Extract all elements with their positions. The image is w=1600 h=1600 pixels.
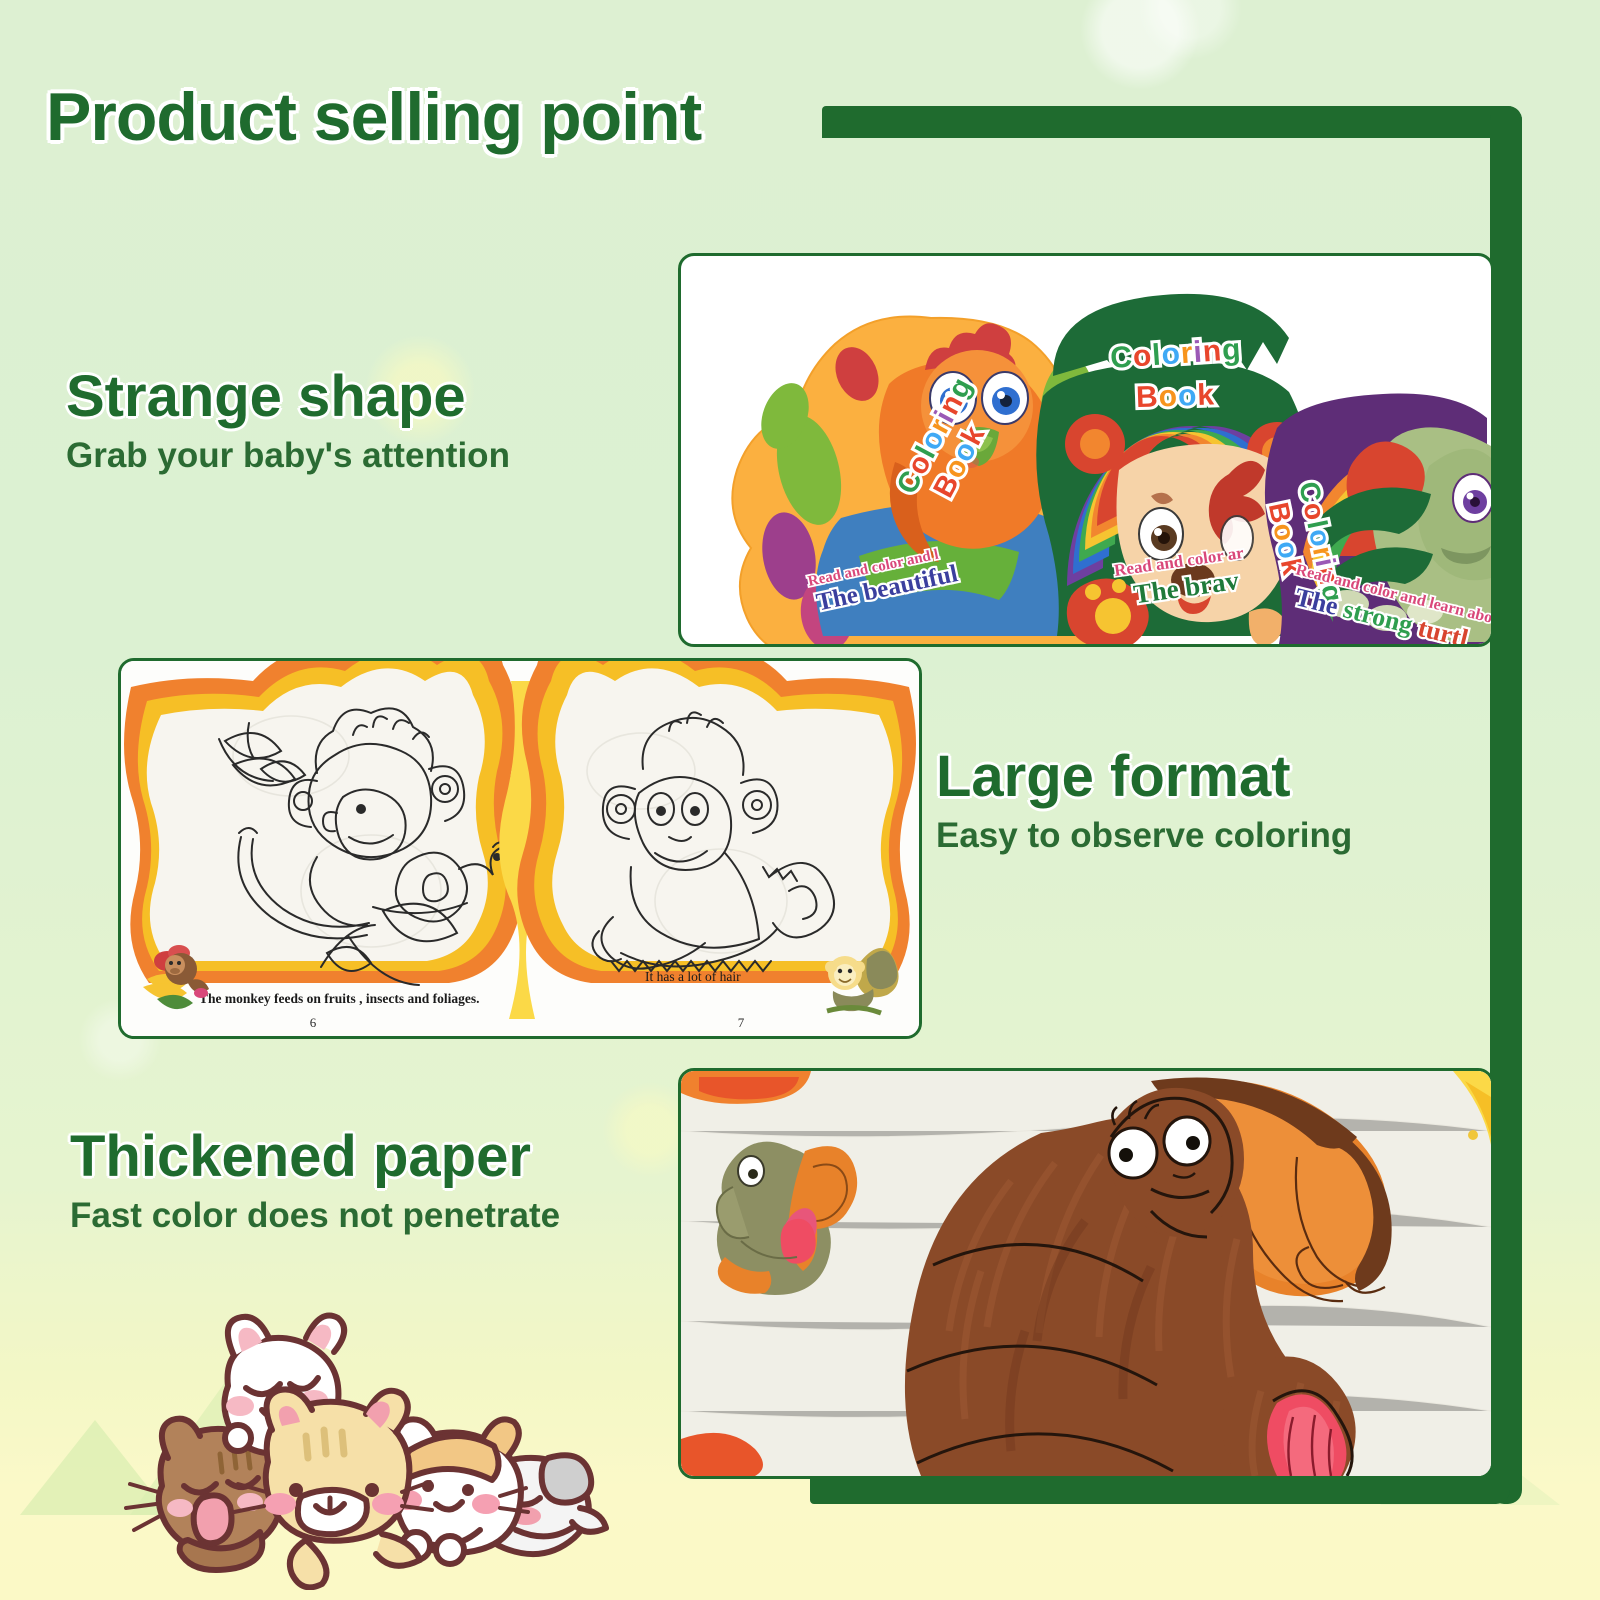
feature-heading: Large format: [936, 748, 1352, 806]
book-covers-illustration: Coloring Book Read and color and l The b…: [681, 256, 1491, 644]
cat-cluster-decoration: [110, 1290, 610, 1590]
left-page-caption: The monkey feeds on fruits , insects and…: [199, 991, 480, 1006]
svg-text:Book: Book: [1135, 378, 1215, 414]
feature-subheading: Easy to observe coloring: [936, 818, 1352, 855]
product-photo-open-book: The monkey feeds on fruits , insects and…: [118, 658, 922, 1039]
kawaii-cats-illustration: [110, 1290, 610, 1590]
product-photo-book-covers: Coloring Book Read and color and l The b…: [678, 253, 1494, 647]
poster-canvas: Product selling point Strange shape Grab…: [0, 0, 1600, 1600]
right-page-number: 7: [738, 1015, 745, 1030]
feature-heading: Thickened paper: [70, 1128, 560, 1186]
open-book-illustration: The monkey feeds on fruits , insects and…: [121, 661, 919, 1036]
feature-block-strange-shape: Strange shape Grab your baby's attention: [66, 368, 510, 475]
left-page-number: 6: [310, 1015, 317, 1030]
book-cover-turtle: Coloring Book Read and color and learn a…: [1260, 394, 1491, 645]
feature-subheading: Grab your baby's attention: [66, 438, 510, 475]
right-page-caption: It has a lot of hair: [645, 969, 741, 984]
open-book-right-page: It has a lot of hair 7: [517, 661, 916, 1030]
open-book-left-page: The monkey feeds on fruits , insects and…: [124, 661, 523, 1030]
feature-block-large-format: Large format Easy to observe coloring: [936, 748, 1352, 855]
page-title: Product selling point: [46, 78, 701, 156]
feature-block-thickened-paper: Thickened paper Fast color does not pene…: [70, 1128, 560, 1235]
feature-subheading: Fast color does not penetrate: [70, 1198, 560, 1235]
frame-right-bar: [1490, 106, 1522, 1504]
feature-heading: Strange shape: [66, 368, 510, 426]
colored-elephant-illustration: [681, 1071, 1491, 1476]
frame-top-bar: [822, 106, 1522, 138]
product-photo-colored-page: [678, 1068, 1494, 1479]
